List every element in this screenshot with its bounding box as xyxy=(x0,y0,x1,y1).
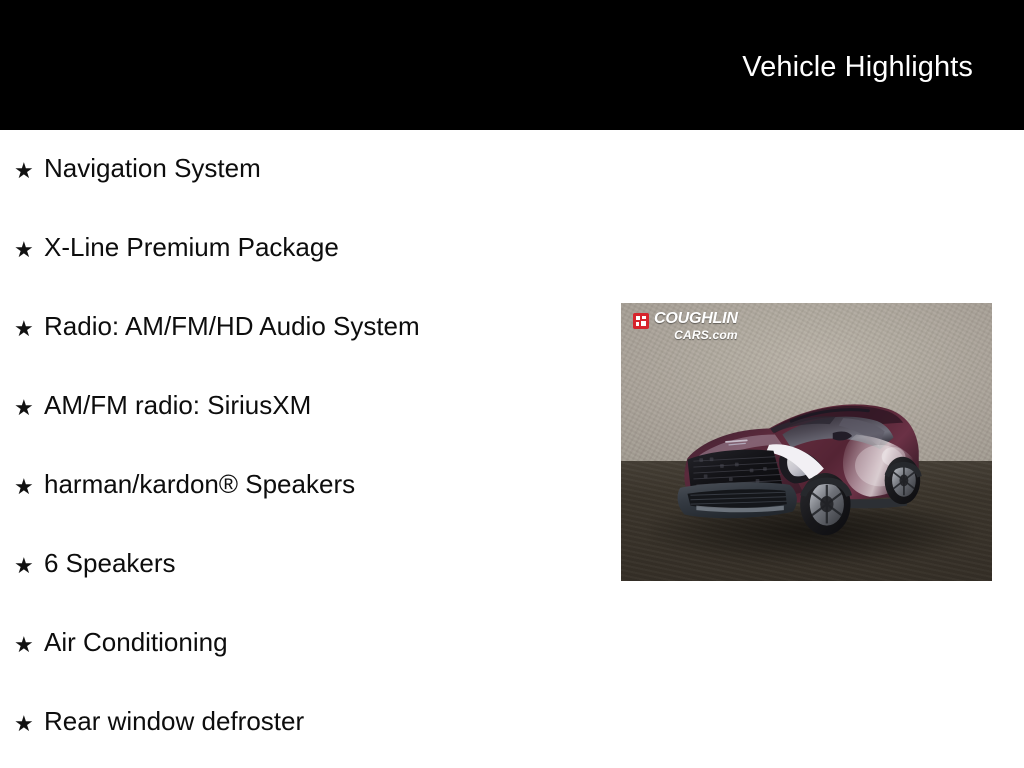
vehicle-highlights-page: Vehicle Highlights ★ Navigation System ★… xyxy=(0,0,1024,768)
star-bullet-icon: ★ xyxy=(14,632,34,658)
list-item: ★ X-Line Premium Package xyxy=(0,231,600,310)
highlight-label: 6 Speakers xyxy=(44,547,176,579)
watermark-brand-bottom: CARS.com xyxy=(654,329,738,341)
page-title: Vehicle Highlights xyxy=(742,50,973,84)
list-item: ★ Navigation System xyxy=(0,152,600,231)
highlight-label: Radio: AM/FM/HD Audio System xyxy=(44,310,420,342)
star-bullet-icon: ★ xyxy=(14,158,34,184)
suv-vehicle-illustration xyxy=(628,347,984,569)
list-item: ★ Radio: AM/FM/HD Audio System xyxy=(0,310,600,389)
dealer-watermark: COUGHLIN CARS.com xyxy=(633,311,738,341)
highlight-label: Rear window defroster xyxy=(44,705,304,737)
highlight-label: AM/FM radio: SiriusXM xyxy=(44,389,311,421)
star-bullet-icon: ★ xyxy=(14,711,34,737)
list-item: ★ 6 Speakers xyxy=(0,547,600,626)
star-bullet-icon: ★ xyxy=(14,395,34,421)
vehicle-highlights-list: ★ Navigation System ★ X-Line Premium Pac… xyxy=(0,152,600,768)
vehicle-photo: COUGHLIN CARS.com xyxy=(621,303,992,581)
watermark-text: COUGHLIN CARS.com xyxy=(654,311,738,341)
highlight-label: Air Conditioning xyxy=(44,626,228,658)
star-bullet-icon: ★ xyxy=(14,316,34,342)
watermark-brand-top: COUGHLIN xyxy=(654,311,738,327)
list-item: ★ Air Conditioning xyxy=(0,626,600,705)
star-bullet-icon: ★ xyxy=(14,553,34,579)
star-bullet-icon: ★ xyxy=(14,474,34,500)
coughlin-logo-icon xyxy=(633,313,649,329)
header-bar: Vehicle Highlights xyxy=(0,0,1024,130)
highlight-label: Navigation System xyxy=(44,152,261,184)
highlight-label: X-Line Premium Package xyxy=(44,231,339,263)
list-item: ★ harman/kardon® Speakers xyxy=(0,468,600,547)
highlight-label: harman/kardon® Speakers xyxy=(44,468,355,500)
list-item: ★ Rear window defroster xyxy=(0,705,600,768)
list-item: ★ AM/FM radio: SiriusXM xyxy=(0,389,600,468)
star-bullet-icon: ★ xyxy=(14,237,34,263)
